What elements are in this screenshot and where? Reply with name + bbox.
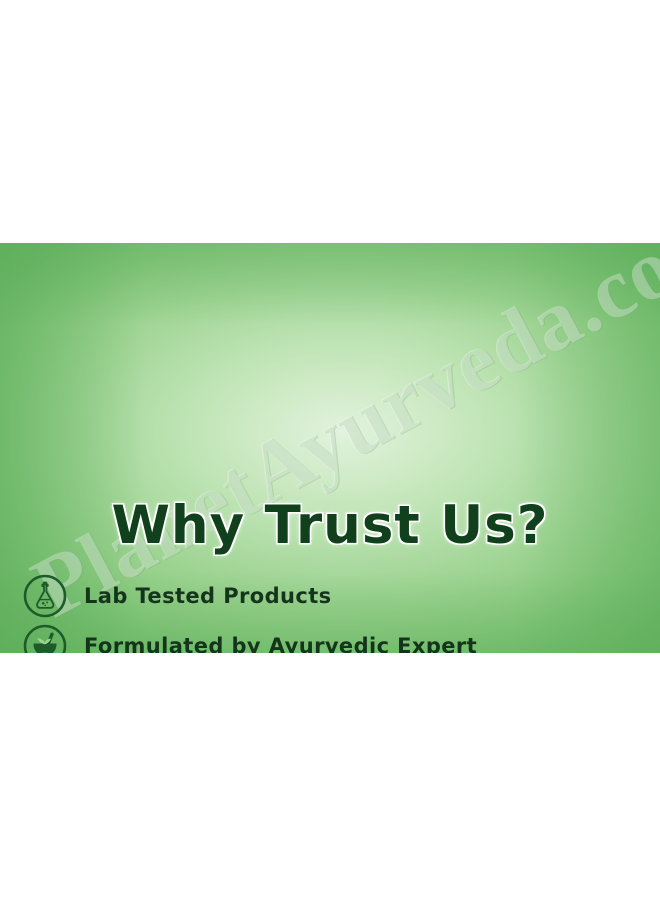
feature-row: Lab Tested Products xyxy=(22,571,582,621)
page-canvas: PlanetAyurveda.com Why Trust Us? La xyxy=(0,0,660,900)
feature-label: Formulated by Ayurvedic Expert xyxy=(84,634,477,653)
page-title: Why Trust Us? xyxy=(0,495,660,557)
flask-icon xyxy=(22,573,68,619)
why-trust-us-banner: PlanetAyurveda.com Why Trust Us? La xyxy=(0,243,660,653)
mortar-pestle-icon xyxy=(22,623,68,653)
feature-row: Formulated by Ayurvedic Expert xyxy=(22,621,582,653)
feature-label: Lab Tested Products xyxy=(84,584,332,608)
trust-features-list: Lab Tested Products Formul xyxy=(22,571,582,653)
